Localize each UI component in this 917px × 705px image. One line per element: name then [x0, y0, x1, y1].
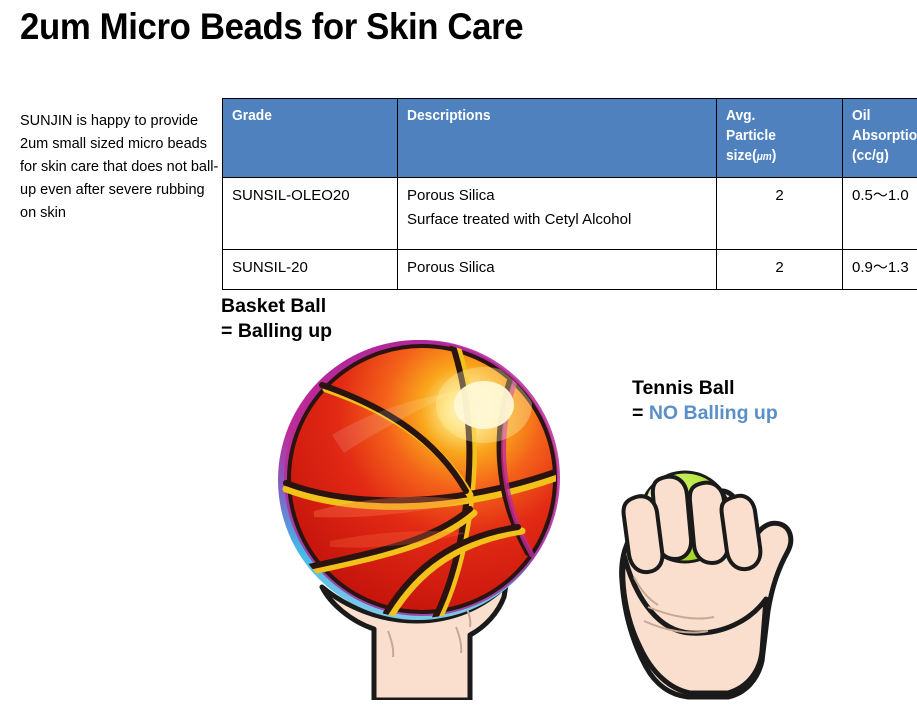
oil-absorption-line-1: Oil	[852, 106, 917, 126]
tennis-ball-in-hand-icon	[610, 435, 810, 700]
column-header-avg-particle-size: Avg. Particle size(μm)	[717, 99, 843, 178]
avg-size-line-3: size(μm)	[726, 146, 824, 167]
avg-size-line-3-text: size(	[726, 147, 757, 164]
table-row: SUNSIL-20 Porous Silica 2 0.9～1.3	[223, 250, 917, 290]
avg-size-paren-close: )	[772, 147, 777, 164]
tennisball-callout-equals: =	[632, 402, 649, 424]
avg-size-line-1: Avg.	[726, 106, 824, 126]
oil-absorption-line-2: Absorption	[852, 126, 917, 146]
avg-size-line-2: Particle	[726, 126, 824, 146]
tennisball-callout-line-1: Tennis Ball	[632, 376, 778, 401]
basketball-callout-equals: =	[221, 320, 238, 342]
cell-oil-absorption: 0.9～1.3	[843, 250, 917, 290]
basketball-callout-line-1: Basket Ball	[221, 294, 332, 319]
column-header-descriptions: Descriptions	[398, 99, 717, 178]
basketball-in-hand-icon	[270, 335, 580, 700]
column-header-descriptions-label: Descriptions	[407, 106, 683, 126]
tennisball-callout: Tennis Ball = NO Balling up	[632, 376, 778, 426]
intro-paragraph: SUNJIN is happy to provide 2um small siz…	[20, 110, 220, 225]
tennisball-callout-line-2: = NO Balling up	[632, 401, 778, 426]
cell-avg-particle-size: 2	[717, 178, 843, 250]
page-title: 2um Micro Beads for Skin Care	[20, 2, 523, 52]
cell-grade: SUNSIL-20	[223, 250, 398, 290]
column-header-grade: Grade	[223, 99, 398, 178]
table-header-row: Grade Descriptions Avg. Particle size(μm…	[223, 99, 917, 178]
table-row: SUNSIL-OLEO20 Porous Silica Surface trea…	[223, 178, 917, 250]
cell-avg-particle-size: 2	[717, 250, 843, 290]
oil-absorption-line-3: (cc/g)	[852, 146, 917, 166]
basketball-illustration	[270, 335, 580, 705]
cell-description: Porous Silica Surface treated with Cetyl…	[398, 178, 717, 250]
description-line-1: Porous Silica	[407, 256, 707, 280]
description-line-1: Porous Silica	[407, 184, 707, 208]
cell-oil-absorption: 0.5～1.0	[843, 178, 917, 250]
product-table: Grade Descriptions Avg. Particle size(μm…	[222, 98, 917, 290]
tennisball-callout-line-2-text: NO Balling up	[649, 402, 778, 424]
description-line-2: Surface treated with Cetyl Alcohol	[407, 208, 707, 232]
column-header-grade-label: Grade	[232, 106, 376, 126]
cell-grade: SUNSIL-OLEO20	[223, 178, 398, 250]
column-header-oil-absorption: Oil Absorption (cc/g)	[843, 99, 917, 178]
cell-description: Porous Silica	[398, 250, 717, 290]
tennisball-illustration	[610, 435, 810, 705]
avg-size-unit: μm	[757, 151, 772, 163]
